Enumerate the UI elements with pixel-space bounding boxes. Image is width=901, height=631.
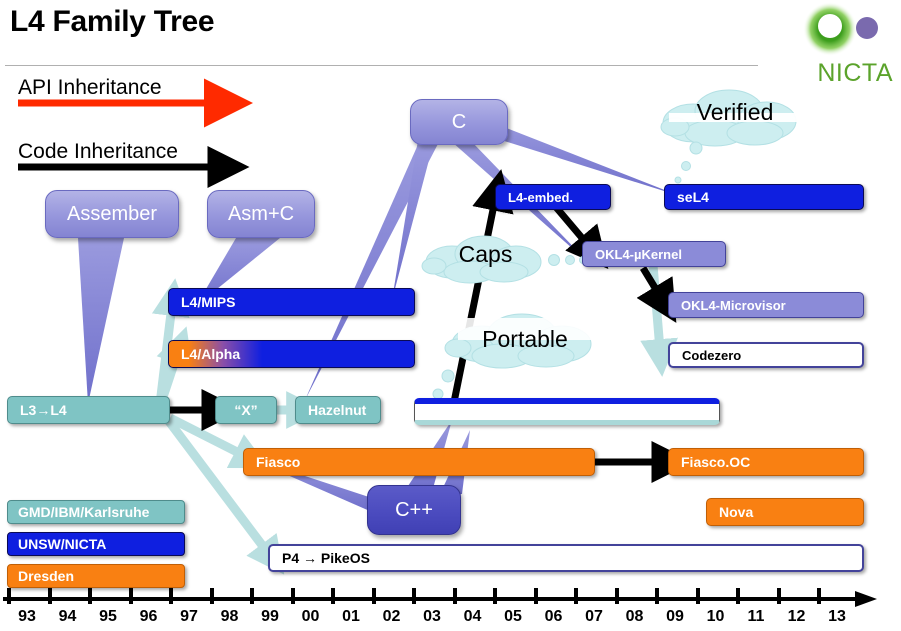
timeline-tick	[169, 588, 173, 604]
bar-fiasco-label: Fiasco	[256, 454, 300, 470]
timeline-tick-label: 13	[822, 608, 852, 626]
timeline-tick-label: 98	[215, 608, 245, 626]
callout-c-label: C	[452, 111, 466, 134]
slide-canvas: L4 Family Tree NICTA API Inheritance Cod…	[0, 0, 901, 631]
bar-codezero[interactable]: Codezero	[668, 342, 864, 368]
bar-okl4-microvisor-label: OKL4-Microvisor	[681, 298, 786, 313]
bar-x-label: “X”	[234, 402, 257, 418]
timeline-tick	[210, 588, 214, 604]
bar-nova[interactable]: Nova	[706, 498, 864, 526]
callout-assember-label: Assember	[67, 203, 157, 226]
legend-key-gmd: GMD/IBM/Karlsruhe	[7, 500, 185, 524]
bar-fiasco[interactable]: Fiasco	[243, 448, 595, 476]
cloud-verified: Verified	[655, 85, 815, 147]
bar-fiasco-oc-label: Fiasco.OC	[681, 454, 750, 470]
timeline-tick	[331, 588, 335, 604]
assember-tail	[78, 238, 124, 404]
legend-api-inheritance-label: API Inheritance	[18, 76, 162, 100]
callout-cpp-label: C++	[395, 499, 433, 522]
timeline-tick-label: 96	[134, 608, 164, 626]
cloud-portable-label: Portable	[440, 308, 610, 370]
bar-nova-label: Nova	[719, 504, 753, 520]
callout-assember[interactable]: Assember	[45, 190, 179, 238]
bar-sel4[interactable]: seL4	[664, 184, 864, 210]
bar-fiasco-oc[interactable]: Fiasco.OC	[668, 448, 864, 476]
bar-okl4-microvisor[interactable]: OKL4-Microvisor	[668, 292, 864, 318]
timeline-tick-label: 94	[53, 608, 83, 626]
bar-l4-alpha[interactable]: L4/Alpha	[168, 340, 415, 368]
arrow-l4embed-to-okl4	[555, 206, 588, 245]
bar-sel4-label: seL4	[677, 189, 709, 205]
timeline-tick	[291, 588, 295, 604]
timeline-tick	[372, 588, 376, 604]
bar-okl4-ukernel[interactable]: OKL4-µKernel	[582, 241, 726, 267]
cloud-caps-label: Caps	[418, 227, 553, 281]
timeline-tick-label: 97	[174, 608, 204, 626]
timeline-tick-label: 95	[93, 608, 123, 626]
timeline-tick	[493, 588, 497, 604]
legend-key-unsw: UNSW/NICTA	[7, 532, 185, 556]
bar-pistachio-empty[interactable]	[414, 398, 720, 425]
bar-p4-pikeos[interactable]: P4 → PikeOS	[268, 544, 864, 572]
timeline-tick	[250, 588, 254, 604]
timeline-tick	[453, 588, 457, 604]
legend-key-gmd-label: GMD/IBM/Karlsruhe	[18, 504, 149, 520]
timeline-tick-label: 02	[377, 608, 407, 626]
timeline-tick-label: 08	[620, 608, 650, 626]
timeline-tick	[7, 588, 11, 604]
timeline-tick-label: 10	[701, 608, 731, 626]
cloud-portable: Portable	[440, 312, 610, 374]
bar-hazelnut-label: Hazelnut	[308, 402, 366, 418]
legend-code-inheritance-label: Code Inheritance	[18, 140, 178, 164]
timeline-tick	[655, 588, 659, 604]
timeline-tick-label: 01	[336, 608, 366, 626]
timeline-tick	[817, 588, 821, 604]
nicta-logo-mark	[783, 2, 893, 62]
timeline-tick	[696, 588, 700, 604]
callout-cpp[interactable]: C++	[367, 485, 461, 535]
timeline-tick-label: 12	[782, 608, 812, 626]
timeline-tick-label: 00	[296, 608, 326, 626]
legend-key-dresden: Dresden	[7, 564, 185, 588]
bar-l4-mips[interactable]: L4/MIPS	[168, 288, 415, 316]
nicta-logo: NICTA	[783, 2, 893, 92]
bar-x[interactable]: “X”	[215, 396, 277, 424]
timeline-tick-label: 99	[255, 608, 285, 626]
bar-l3-to-l4[interactable]: L3→L4	[7, 396, 170, 424]
bar-okl4-ukernel-label: OKL4-µKernel	[595, 247, 682, 262]
timeline-tick-label: 04	[458, 608, 488, 626]
timeline-tick	[129, 588, 133, 604]
bar-hazelnut[interactable]: Hazelnut	[295, 396, 381, 424]
cloud-caps: Caps	[418, 232, 553, 286]
timeline-tick	[736, 588, 740, 604]
callout-c[interactable]: C	[410, 99, 508, 145]
arrow-okl4-to-codezero	[653, 265, 660, 350]
timeline-tick	[48, 588, 52, 604]
bar-l4-embed[interactable]: L4-embed.	[495, 184, 611, 210]
timeline-arrowhead	[855, 585, 895, 615]
page-title: L4 Family Tree	[10, 5, 214, 39]
timeline-tick	[777, 588, 781, 604]
legend-key-unsw-label: UNSW/NICTA	[18, 536, 106, 552]
legend-key-dresden-label: Dresden	[18, 568, 74, 584]
bar-l4-embed-label: L4-embed.	[508, 190, 573, 205]
bar-codezero-label: Codezero	[682, 348, 741, 363]
bar-l4-alpha-label: L4/Alpha	[181, 346, 240, 362]
timeline-tick-label: 03	[417, 608, 447, 626]
bar-l3-to-l4-label: L3→L4	[20, 402, 67, 418]
timeline-tick	[412, 588, 416, 604]
timeline-tick-label: 93	[12, 608, 42, 626]
timeline-tick-label: 11	[741, 608, 771, 626]
bar-p4-pikeos-label: P4 → PikeOS	[282, 550, 370, 566]
arrow-okl4-to-microvisor	[643, 268, 660, 296]
timeline-tick-label: 09	[660, 608, 690, 626]
timeline-tick-label: 06	[539, 608, 569, 626]
bar-l4-mips-label: L4/MIPS	[181, 294, 235, 310]
callout-asm-plus-c[interactable]: Asm+C	[207, 190, 315, 238]
callout-asm-plus-c-label: Asm+C	[228, 203, 294, 226]
timeline-tick	[534, 588, 538, 604]
title-divider	[5, 65, 758, 66]
timeline-tick	[574, 588, 578, 604]
timeline-tick	[615, 588, 619, 604]
timeline-tick	[88, 588, 92, 604]
timeline-tick-label: 05	[498, 608, 528, 626]
cloud-verified-label: Verified	[655, 81, 815, 143]
timeline-tick-label: 07	[579, 608, 609, 626]
